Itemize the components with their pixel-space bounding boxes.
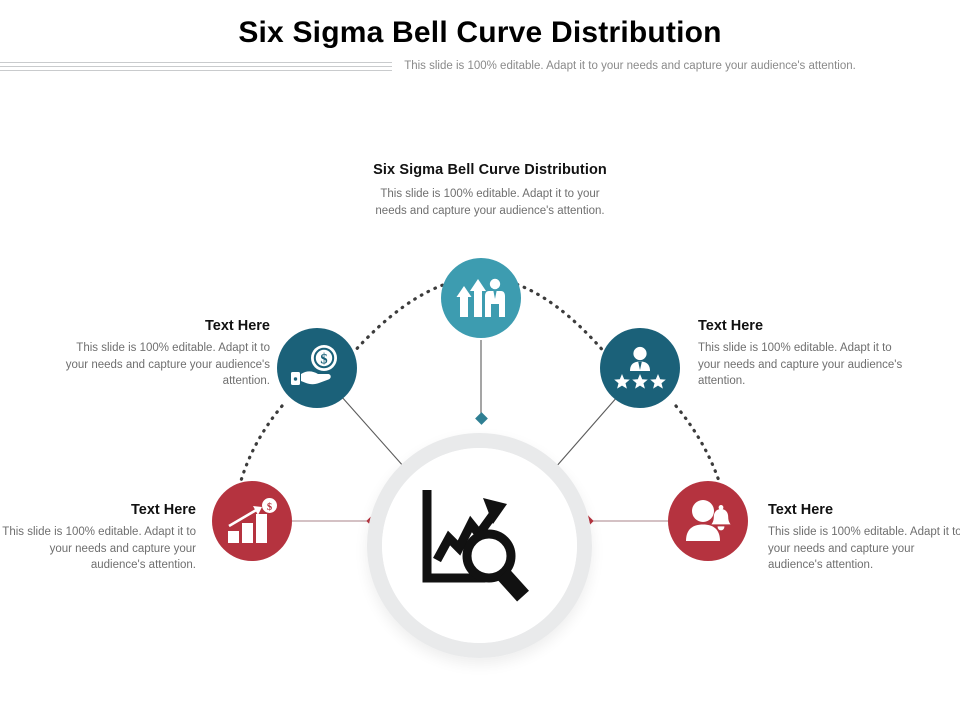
svg-text:$: $ [320, 352, 327, 368]
blurb-lower-left: Text Here This slide is 100% editable. A… [0, 502, 196, 574]
node-upper-left[interactable]: $ [277, 328, 357, 408]
dotted-connector-upright-lowright [676, 406, 720, 484]
center-hub[interactable] [367, 433, 592, 658]
blurb-upper-right: Text Here This slide is 100% editable. A… [698, 318, 910, 390]
node-lower-right[interactable] [668, 481, 748, 561]
blurb-upper-right-body: This slide is 100% editable. Adapt it to… [698, 340, 910, 390]
center-heading-title: Six Sigma Bell Curve Distribution [330, 162, 650, 178]
svg-text:$: $ [267, 502, 272, 513]
blurb-upper-right-title: Text Here [698, 318, 910, 334]
dotted-connector-top-upright [510, 282, 606, 354]
blurb-lower-right-title: Text Here [768, 502, 960, 518]
node-top[interactable] [441, 258, 521, 338]
diagram-stage: Six Sigma Bell Curve Distribution This s… [0, 96, 960, 720]
page-title: Six Sigma Bell Curve Distribution [0, 16, 960, 50]
blurb-upper-left: Text Here This slide is 100% editable. A… [58, 318, 270, 390]
growth-people-icon [456, 277, 506, 319]
slide-header: Six Sigma Bell Curve Distribution This s… [0, 0, 960, 96]
chart-magnifier-icon [421, 490, 539, 602]
node-lower-left[interactable]: $ [212, 481, 292, 561]
blurb-lower-right-body: This slide is 100% editable. Adapt it to… [768, 524, 960, 574]
dotted-connector-upleft-top [352, 282, 452, 354]
dotted-connector-upleft-lowleft [240, 406, 282, 484]
person-bell-icon [684, 499, 732, 543]
ring-marker-top [475, 412, 488, 425]
blurb-lower-right: Text Here This slide is 100% editable. A… [768, 502, 960, 574]
spoke-upright [548, 396, 618, 476]
page-subtitle: This slide is 100% editable. Adapt it to… [300, 60, 960, 72]
person-stars-icon [614, 346, 666, 390]
blurb-upper-left-title: Text Here [58, 318, 270, 334]
blurb-lower-left-title: Text Here [0, 502, 196, 518]
node-upper-right[interactable] [600, 328, 680, 408]
blurb-upper-left-body: This slide is 100% editable. Adapt it to… [58, 340, 270, 390]
hand-money-icon: $ [291, 345, 343, 391]
hub-inner [382, 448, 577, 643]
bar-chart-money-icon: $ [227, 498, 277, 544]
center-heading-body: This slide is 100% editable. Adapt it to… [330, 186, 650, 219]
blurb-lower-left-body: This slide is 100% editable. Adapt it to… [0, 524, 196, 574]
center-heading: Six Sigma Bell Curve Distribution This s… [330, 162, 650, 219]
